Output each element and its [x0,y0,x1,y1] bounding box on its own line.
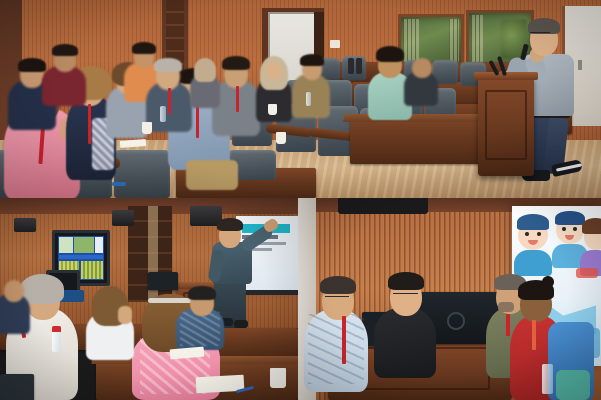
front-desk [350,118,498,164]
bottle-cap [52,326,61,332]
ceiling-speaker-centre [112,210,134,226]
beard [498,302,514,312]
water-bottle [542,364,553,394]
glasses [325,296,349,302]
ceiling-speaker-left [14,218,36,232]
water-bottle [160,106,166,122]
laptop [0,374,34,400]
photo-collage [0,0,601,400]
hair-bun [542,276,554,288]
glasses [393,293,418,299]
panel-group-at-podium-with-laptops [298,198,601,400]
paper-cup [142,122,152,134]
panel-lecture-hall-speaker-and-audience [0,0,601,198]
wall-notice [330,40,340,48]
lanyard [342,316,346,364]
panel-presenter-pointing-at-projection [0,198,298,400]
lectern [478,76,534,176]
speaker-glasses [530,32,550,38]
headband [148,298,192,303]
podium-laptop [148,272,178,290]
pen [112,182,126,186]
ceiling-fixture [338,198,428,214]
backpack-pocket [556,370,590,400]
paper-cup [270,368,286,388]
